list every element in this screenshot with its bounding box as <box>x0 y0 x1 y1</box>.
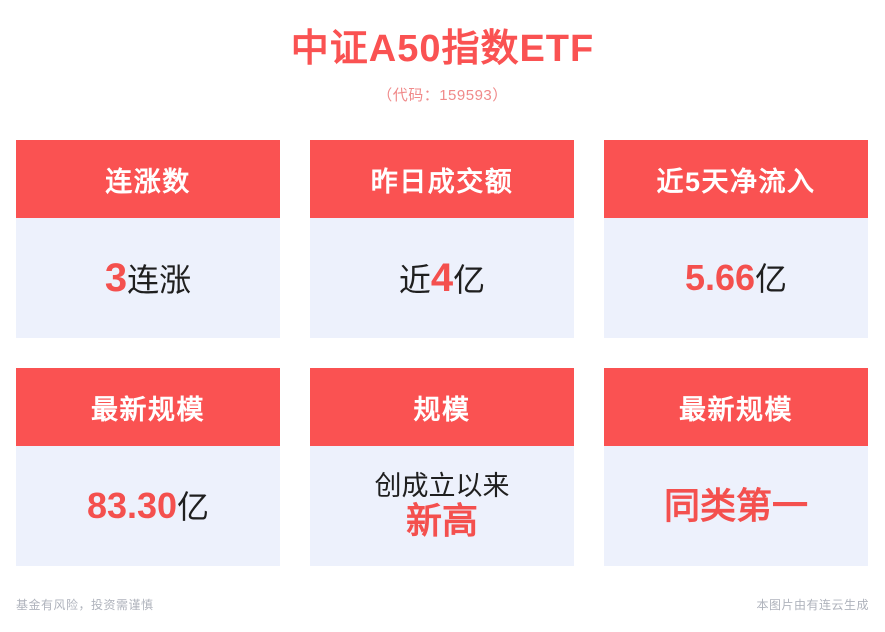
poster-footer: 基金有风险，投资需谨慎 本图片由有连云生成 <box>0 592 885 616</box>
metric-value-line: 近4亿 <box>399 256 485 301</box>
metric-value-part: 亿 <box>755 261 787 297</box>
metric-value-line: 同类第一 <box>664 486 808 526</box>
metric-card-body: 3连涨 <box>16 218 280 338</box>
metric-card-header: 规模 <box>310 368 574 446</box>
metric-value-line: 新高 <box>406 501 478 541</box>
fund-code-subtitle: （代码：159593） <box>0 84 885 105</box>
page-title: 中证A50指数ETF <box>0 26 885 74</box>
metric-card-yesterday-turnover: 昨日成交额近4亿 <box>310 140 574 338</box>
metric-value-part: 近 <box>399 262 431 298</box>
metric-card-body: 同类第一 <box>604 446 868 566</box>
metric-card-net-inflow-5d: 近5天净流入5.66亿 <box>604 140 868 338</box>
metric-value-part: 83.30 <box>87 485 177 526</box>
metric-value-part: 3 <box>105 256 127 300</box>
metric-card-body: 创成立以来新高 <box>310 446 574 566</box>
risk-disclaimer: 基金有风险，投资需谨慎 <box>16 596 154 613</box>
generator-attribution: 本图片由有连云生成 <box>756 596 869 613</box>
metric-card-body: 5.66亿 <box>604 218 868 338</box>
metric-card-category-rank: 最新规模同类第一 <box>604 368 868 566</box>
metric-card-header: 连涨数 <box>16 140 280 218</box>
metric-value-part: 亿 <box>177 489 209 525</box>
metric-value-part: 新高 <box>406 500 478 541</box>
metric-value-part: 同类第一 <box>664 485 808 526</box>
metric-card-consecutive-gains: 连涨数3连涨 <box>16 140 280 338</box>
metric-value-line: 3连涨 <box>105 256 191 301</box>
metric-value-part: 连涨 <box>127 262 191 298</box>
poster-page: 中证A50指数ETF （代码：159593） 连涨数3连涨昨日成交额近4亿近5天… <box>0 0 885 632</box>
metric-card-latest-scale: 最新规模83.30亿 <box>16 368 280 566</box>
poster-header: 中证A50指数ETF （代码：159593） <box>0 0 885 105</box>
metric-value-part: 创成立以来 <box>375 471 510 501</box>
metric-card-body: 近4亿 <box>310 218 574 338</box>
metric-value-line: 创成立以来 <box>375 471 510 501</box>
metric-card-grid: 连涨数3连涨昨日成交额近4亿近5天净流入5.66亿最新规模83.30亿规模创成立… <box>16 140 869 566</box>
metric-card-header: 昨日成交额 <box>310 140 574 218</box>
metric-card-scale-record-high: 规模创成立以来新高 <box>310 368 574 566</box>
metric-value-line: 83.30亿 <box>87 486 209 526</box>
metric-card-header: 近5天净流入 <box>604 140 868 218</box>
metric-card-body: 83.30亿 <box>16 446 280 566</box>
metric-value-part: 4 <box>431 256 453 300</box>
metric-card-header: 最新规模 <box>604 368 868 446</box>
metric-value-part: 5.66 <box>685 257 755 298</box>
metric-value-line: 5.66亿 <box>685 258 787 298</box>
metric-card-header: 最新规模 <box>16 368 280 446</box>
metric-value-part: 亿 <box>453 262 485 298</box>
